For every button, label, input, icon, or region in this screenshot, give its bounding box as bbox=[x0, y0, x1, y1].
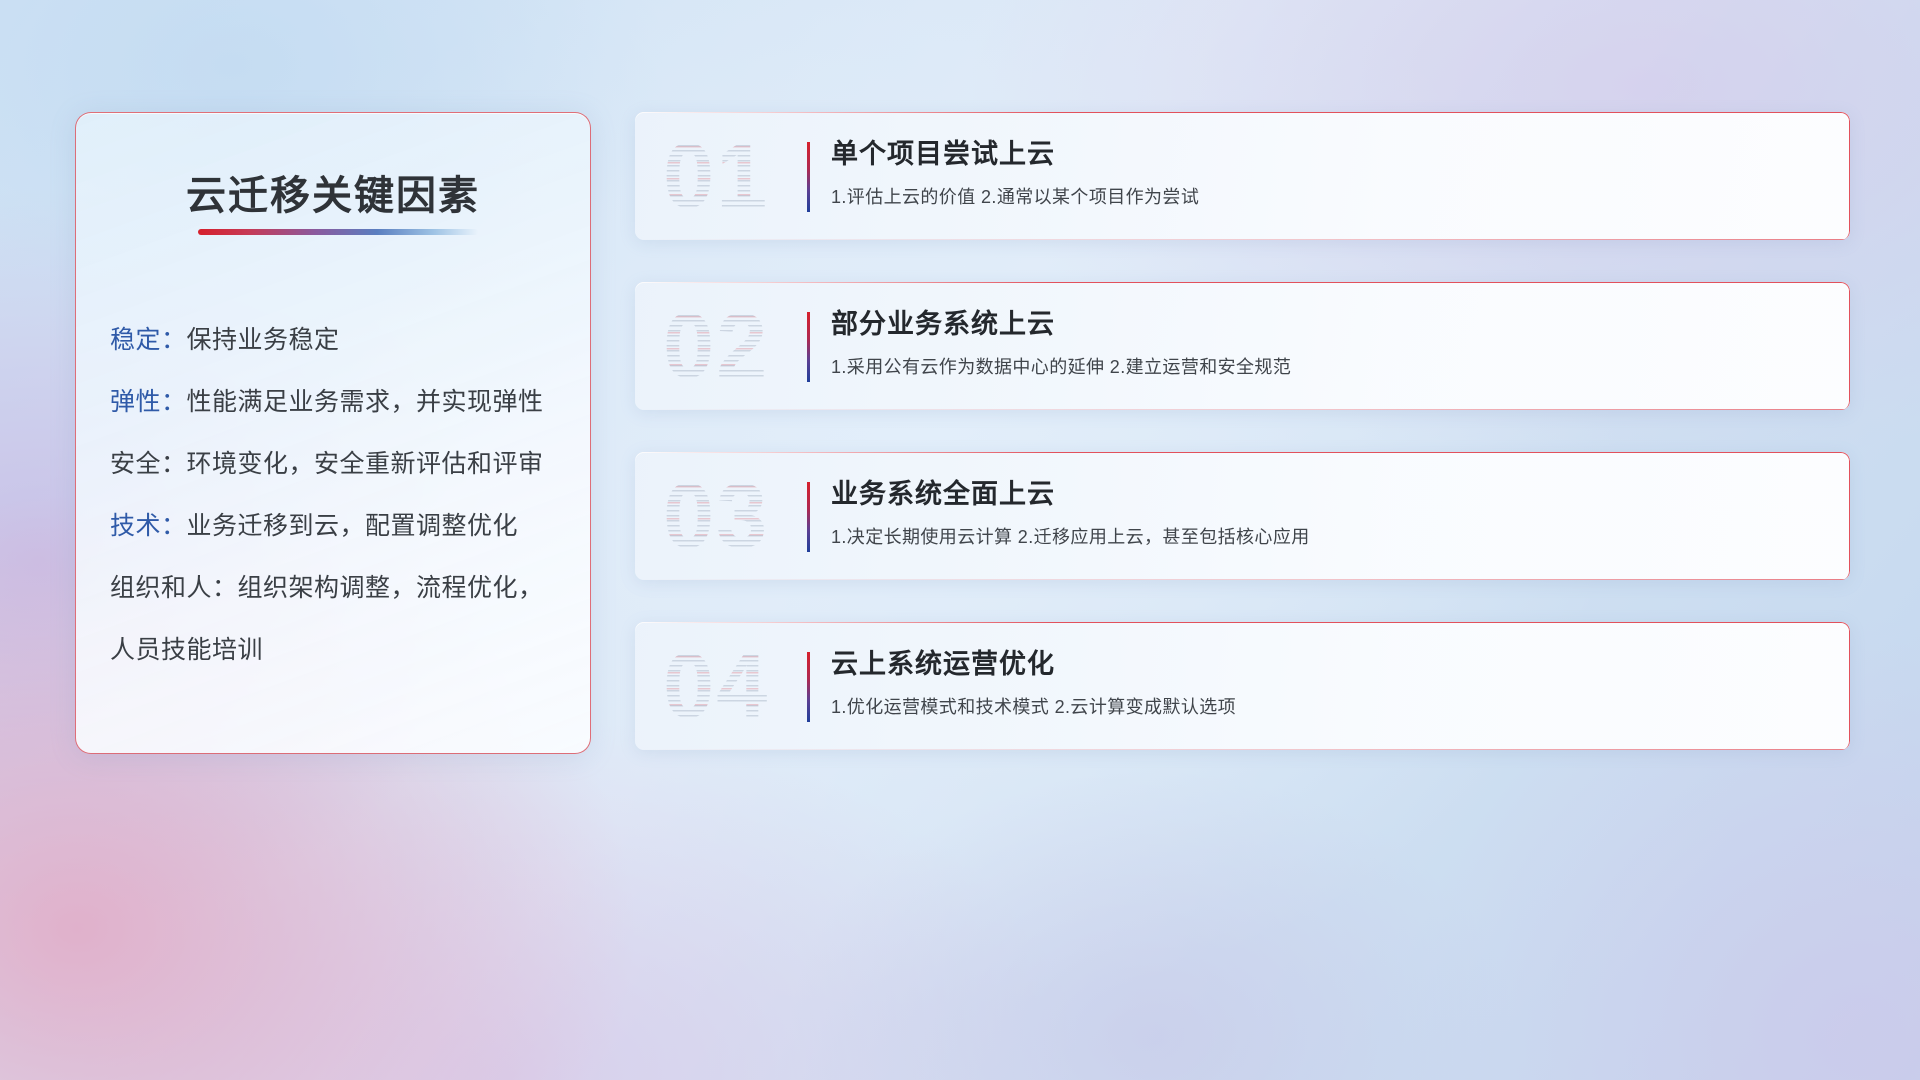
factor-row: 技术：业务迁移到云，配置调整优化 bbox=[110, 495, 572, 557]
card-title: 业务系统全面上云 bbox=[831, 474, 1824, 514]
slide-canvas: 云迁移关键因素 稳定：保持业务稳定弹性：性能满足业务需求，并实现弹性安全：环境变… bbox=[0, 0, 1920, 1080]
card-body: 部分业务系统上云1.采用公有云作为数据中心的延伸 2.建立运营和安全规范 bbox=[831, 304, 1824, 381]
factor-row: 弹性：性能满足业务需求，并实现弹性 bbox=[110, 371, 572, 433]
title-underline-rule bbox=[198, 229, 478, 235]
factor-label: 稳定： bbox=[110, 326, 187, 354]
factor-row: 安全：环境变化，安全重新评估和评审 bbox=[110, 433, 572, 495]
page-title: 云迁移关键因素 bbox=[76, 163, 590, 221]
card-body: 业务系统全面上云1.决定长期使用云计算 2.迁移应用上云，甚至包括核心应用 bbox=[831, 474, 1824, 551]
stage-number-watermark: 03 bbox=[663, 470, 769, 562]
migration-stage-cards: 0101单个项目尝试上云1.评估上云的价值 2.通常以某个项目作为尝试0202部… bbox=[635, 112, 1850, 792]
factor-label: 组织和人： bbox=[110, 574, 238, 602]
factor-label: 弹性： bbox=[110, 388, 187, 416]
factor-row: 稳定：保持业务稳定 bbox=[110, 309, 572, 371]
factor-label: 技术： bbox=[110, 512, 187, 540]
card-title: 云上系统运营优化 bbox=[831, 644, 1824, 684]
factor-label: 安全： bbox=[110, 450, 187, 478]
factor-text: 组织架构调整，流程优化， bbox=[238, 574, 544, 602]
card-accent-divider bbox=[807, 312, 810, 382]
card-description: 1.评估上云的价值 2.通常以某个项目作为尝试 bbox=[831, 183, 1824, 211]
stage-number-watermark: 02 bbox=[663, 300, 769, 392]
card-title: 单个项目尝试上云 bbox=[831, 134, 1824, 174]
factor-text: 保持业务稳定 bbox=[187, 326, 340, 354]
stage-card[interactable]: 0404云上系统运营优化1.优化运营模式和技术模式 2.云计算变成默认选项 bbox=[635, 622, 1850, 750]
card-accent-divider bbox=[807, 142, 810, 212]
card-description: 1.优化运营模式和技术模式 2.云计算变成默认选项 bbox=[831, 693, 1824, 721]
stage-card[interactable]: 0101单个项目尝试上云1.评估上云的价值 2.通常以某个项目作为尝试 bbox=[635, 112, 1850, 240]
factor-text: 环境变化，安全重新评估和评审 bbox=[187, 450, 544, 478]
card-body: 云上系统运营优化1.优化运营模式和技术模式 2.云计算变成默认选项 bbox=[831, 644, 1824, 721]
stage-number-watermark: 04 bbox=[663, 640, 769, 732]
factor-row: 组织和人：组织架构调整，流程优化， bbox=[110, 557, 572, 619]
stage-number-watermark: 01 bbox=[663, 130, 769, 222]
stage-card[interactable]: 0202部分业务系统上云1.采用公有云作为数据中心的延伸 2.建立运营和安全规范 bbox=[635, 282, 1850, 410]
stage-card[interactable]: 0303业务系统全面上云1.决定长期使用云计算 2.迁移应用上云，甚至包括核心应… bbox=[635, 452, 1850, 580]
card-body: 单个项目尝试上云1.评估上云的价值 2.通常以某个项目作为尝试 bbox=[831, 134, 1824, 211]
factor-row: 人员技能培训 bbox=[110, 619, 572, 681]
key-factors-panel: 云迁移关键因素 稳定：保持业务稳定弹性：性能满足业务需求，并实现弹性安全：环境变… bbox=[75, 112, 591, 754]
card-accent-divider bbox=[807, 482, 810, 552]
card-accent-divider bbox=[807, 652, 810, 722]
factor-text: 性能满足业务需求，并实现弹性 bbox=[187, 388, 544, 416]
card-description: 1.决定长期使用云计算 2.迁移应用上云，甚至包括核心应用 bbox=[831, 523, 1824, 551]
card-title: 部分业务系统上云 bbox=[831, 304, 1824, 344]
card-description: 1.采用公有云作为数据中心的延伸 2.建立运营和安全规范 bbox=[831, 353, 1824, 381]
factor-text: 业务迁移到云，配置调整优化 bbox=[187, 512, 519, 540]
factor-text: 人员技能培训 bbox=[110, 636, 263, 664]
factor-list: 稳定：保持业务稳定弹性：性能满足业务需求，并实现弹性安全：环境变化，安全重新评估… bbox=[110, 309, 572, 681]
